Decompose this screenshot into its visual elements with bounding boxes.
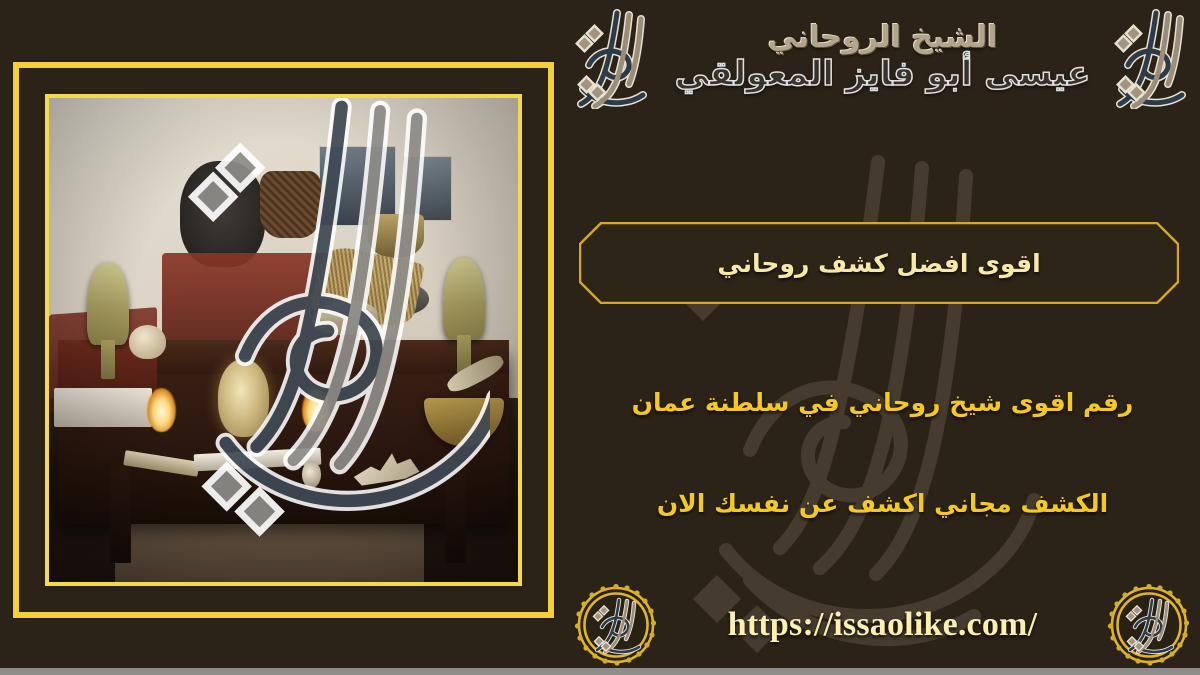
calligraphy-logo-icon-right xyxy=(1104,5,1200,109)
photo-frame xyxy=(13,62,554,618)
website-footer: https://issaolike.com/ xyxy=(565,578,1200,672)
brand-title-block: الشيخ الروحاني عيسى أبو فايز المعولقي xyxy=(661,22,1104,92)
calligraphy-logo-icon-left xyxy=(565,5,661,109)
brand-title-line2: عيسى أبو فايز المعولقي xyxy=(663,56,1102,92)
headline-text: اقوى افضل كشف روحاني xyxy=(579,222,1179,304)
brand-header: الشيخ الروحاني عيسى أبو فايز المعولقي xyxy=(565,2,1200,112)
wreath-medallion-icon-left xyxy=(573,582,659,668)
brand-title-line1: الشيخ الروحاني xyxy=(663,22,1102,54)
promo-poster: الشيخ الروحاني عيسى أبو فايز المعولقي xyxy=(0,0,1200,675)
wreath-medallion-icon-right xyxy=(1106,582,1192,668)
photo-frame-inner xyxy=(45,94,522,586)
body-line-2: الكشف مجاني اكشف عن نفسك الان xyxy=(565,489,1200,518)
photo-vignette xyxy=(49,98,518,582)
bottom-strip xyxy=(0,668,1200,675)
altar-photo xyxy=(49,98,518,582)
website-url[interactable]: https://issaolike.com/ xyxy=(659,606,1106,644)
body-line-1: رقم اقوى شيخ روحاني في سلطنة عمان xyxy=(565,388,1200,417)
right-content-panel: الشيخ الروحاني عيسى أبو فايز المعولقي xyxy=(565,0,1200,675)
